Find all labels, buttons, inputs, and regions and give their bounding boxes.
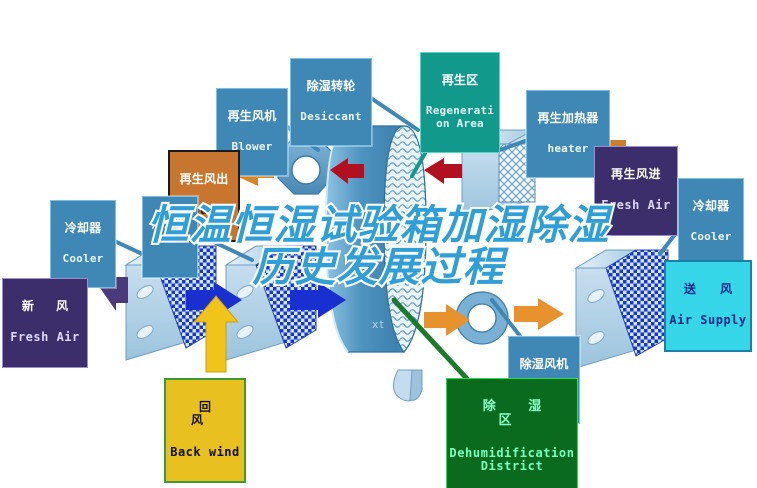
- label-regeneration-fresh-air-en: Fresh Air: [597, 199, 675, 212]
- label-regeneration-heater-cn: 再生加热器: [529, 112, 607, 125]
- label-regeneration-area-cn: 再生区: [423, 74, 497, 87]
- arrow-blower-to-cooler: [514, 298, 564, 330]
- label-regeneration-area-en: Regenerati on Area: [423, 105, 497, 130]
- arrow-heater-to-rotor: [424, 158, 462, 184]
- label-fresh-air-cn: 新 风: [5, 300, 85, 313]
- label-cooler-left[interactable]: 冷却器 Cooler: [50, 200, 116, 288]
- label-cooler-upper-right[interactable]: 冷却器 Cooler: [678, 178, 744, 266]
- label-dehumidification-district-en: Dehumidification District: [449, 447, 575, 474]
- label-regeneration-blower-cn: 再生风机: [219, 110, 285, 123]
- label-regeneration-fresh-air-cn: 再生风进: [597, 168, 675, 181]
- label-back-wind[interactable]: 回 风 Back wind: [164, 378, 246, 483]
- label-air-supply-en: Air Supply: [668, 314, 748, 327]
- label-back-wind-en: Back wind: [168, 446, 242, 459]
- diagram-canvas: 除湿转轮 Desiccant 再生风机 Blower 再生区 Regenerat…: [0, 0, 757, 488]
- supply-cooler-unit: [576, 250, 668, 368]
- label-cooler-mid[interactable]: 冷却器: [142, 196, 198, 278]
- label-air-supply[interactable]: 送 风 Air Supply: [664, 260, 752, 352]
- label-cooler-mid-cn: 冷却器: [145, 218, 195, 231]
- label-air-supply-cn: 送 风: [668, 283, 748, 296]
- label-dehumidification-district-cn: 除 湿 区: [449, 400, 575, 429]
- label-fresh-air-en: Fresh Air: [5, 331, 85, 344]
- label-dehumidification-district[interactable]: 除 湿 区 Dehumidification District: [446, 378, 578, 488]
- label-cooler-upper-right-cn: 冷却器: [681, 200, 741, 213]
- label-fresh-air[interactable]: 新 风 Fresh Air: [2, 278, 88, 368]
- label-cooler-left-cn: 冷却器: [53, 222, 113, 235]
- label-desiccant[interactable]: 除湿转轮 Desiccant: [290, 58, 372, 146]
- label-back-wind-cn: 回 风: [168, 401, 242, 428]
- label-exhaust-cn: 再生风出: [172, 173, 236, 186]
- label-regeneration-fresh-air[interactable]: 再生风进 Fresh Air: [594, 146, 678, 236]
- label-regeneration-area[interactable]: 再生区 Regenerati on Area: [420, 52, 500, 153]
- label-cooler-upper-right-en: Cooler: [681, 231, 741, 243]
- label-cooler-left-en: Cooler: [53, 253, 113, 265]
- label-desiccant-cn: 除湿转轮: [293, 80, 369, 93]
- label-dehumidification-blower-cn: 除湿风机: [511, 358, 577, 371]
- watermark-text: xt: [372, 318, 385, 331]
- label-desiccant-en: Desiccant: [293, 111, 369, 123]
